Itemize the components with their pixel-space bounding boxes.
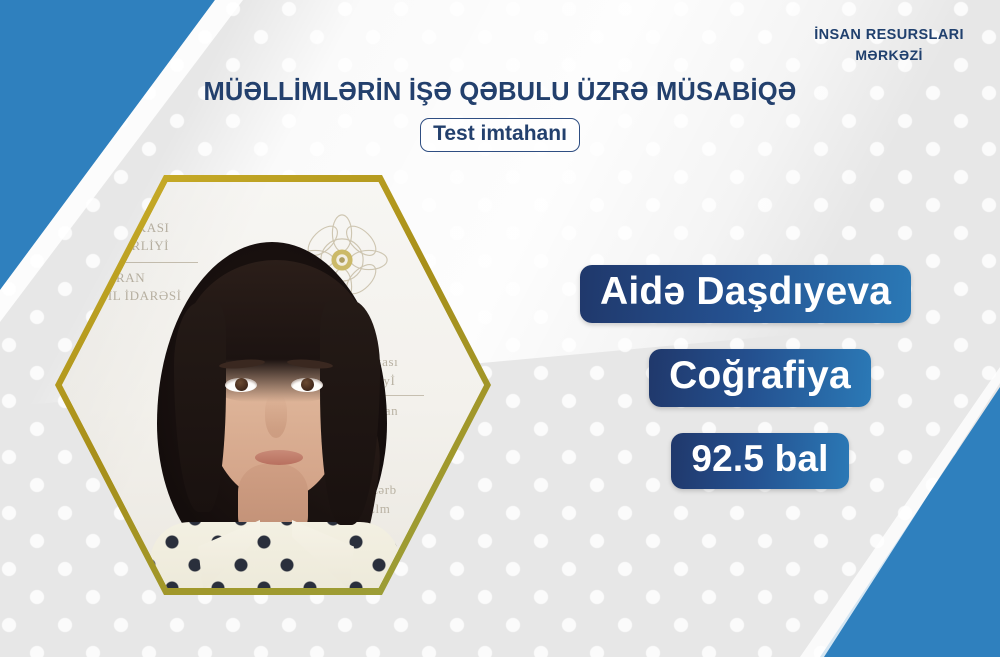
portrait-shirt (150, 522, 400, 588)
logo-line-2: MƏRKƏZİ (814, 46, 964, 65)
subtitle-container: Test imtahanı (0, 118, 1000, 152)
result-badges: Aidə Daşdıyeva Coğrafiya 92.5 bal (580, 265, 940, 489)
subject-badge: Coğrafiya (649, 349, 871, 407)
portrait-hexagon: BLİKASI AZİRLİYİ ARAN SİL İDARƏSİ Regi R… (55, 175, 491, 595)
portrait-iris-left (235, 378, 248, 391)
portrait-lips (255, 450, 303, 465)
result-poster: İNSAN RESURSLARI MƏRKƏZİ MÜƏLLİMLƏRİN İŞ… (0, 0, 1000, 657)
logo-line-1: İNSAN RESURSLARI (814, 26, 964, 46)
candidate-name-badge: Aidə Daşdıyeva (580, 265, 911, 323)
backdrop-text-line: AZİRLİYİ (108, 238, 169, 254)
portrait-photo: BLİKASI AZİRLİYİ ARAN SİL İDARƏSİ Regi R… (62, 182, 484, 588)
organization-logo: İNSAN RESURSLARI MƏRKƏZİ (814, 26, 964, 64)
page-title: MÜƏLLİMLƏRİN İŞƏ QƏBULU ÜZRƏ MÜSABİQƏ (0, 78, 1000, 107)
portrait-nose (265, 394, 287, 438)
portrait-iris-right (301, 378, 314, 391)
score-badge: 92.5 bal (671, 433, 848, 489)
subtitle-badge: Test imtahanı (420, 118, 580, 152)
backdrop-text-line: SİL İDARƏSİ (100, 288, 182, 304)
